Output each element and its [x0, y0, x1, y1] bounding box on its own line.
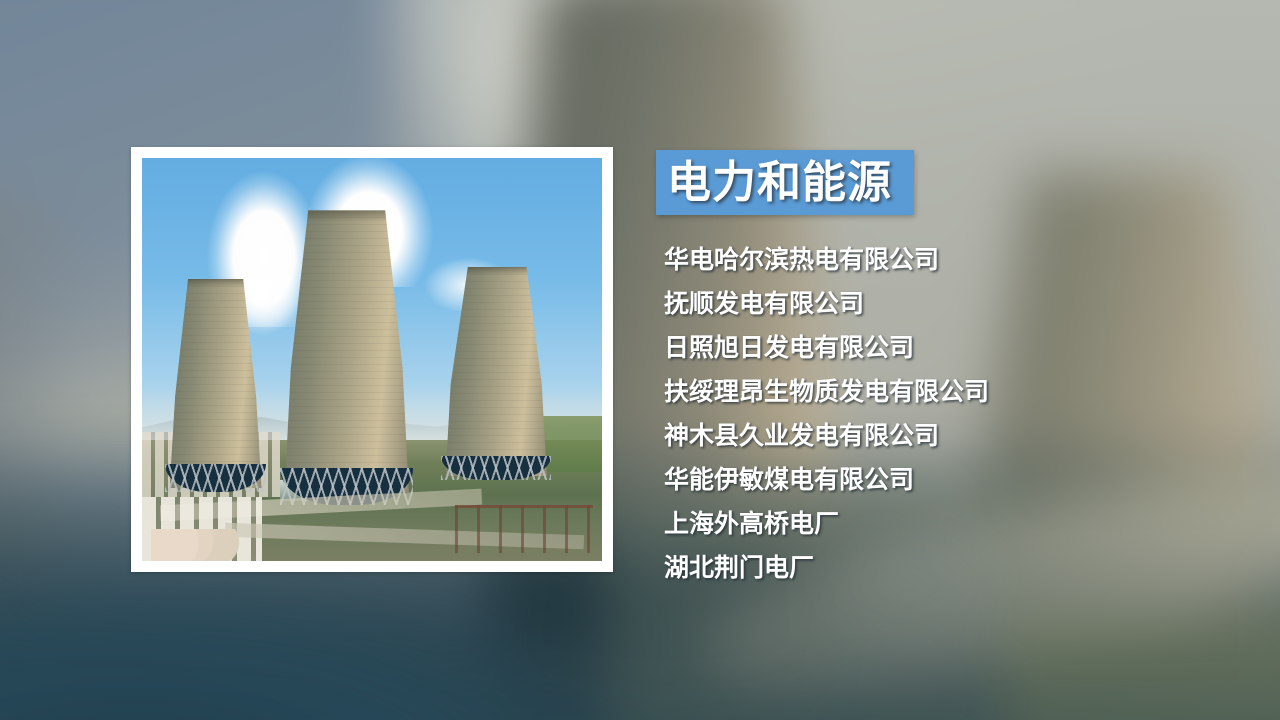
list-item: 神木县久业发电有限公司	[664, 414, 1224, 458]
list-item: 华能伊敏煤电有限公司	[664, 458, 1224, 502]
page-title: 电力和能源	[656, 161, 892, 205]
presentation-slide: 电力和能源 华电哈尔滨热电有限公司 抚顺发电有限公司 日照旭日发电有限公司 扶绥…	[0, 0, 1280, 720]
photo-tower-base-3	[441, 456, 551, 480]
list-item: 湖北荆门电厂	[664, 546, 1224, 590]
list-item: 上海外高桥电厂	[664, 502, 1224, 546]
photo-pipework	[455, 505, 593, 553]
list-item: 日照旭日发电有限公司	[664, 326, 1224, 370]
company-list: 华电哈尔滨热电有限公司 抚顺发电有限公司 日照旭日发电有限公司 扶绥理昂生物质发…	[664, 238, 1224, 590]
background-field	[1005, 616, 1280, 720]
list-item: 华电哈尔滨热电有限公司	[664, 238, 1224, 282]
photo-frame	[131, 147, 613, 572]
power-plant-photo	[142, 158, 602, 561]
title-banner: 电力和能源	[656, 150, 914, 215]
list-item: 扶绥理昂生物质发电有限公司	[664, 370, 1224, 414]
photo-storage-tanks	[151, 529, 252, 561]
list-item: 抚顺发电有限公司	[664, 282, 1224, 326]
photo-tower-base-1	[165, 464, 266, 492]
